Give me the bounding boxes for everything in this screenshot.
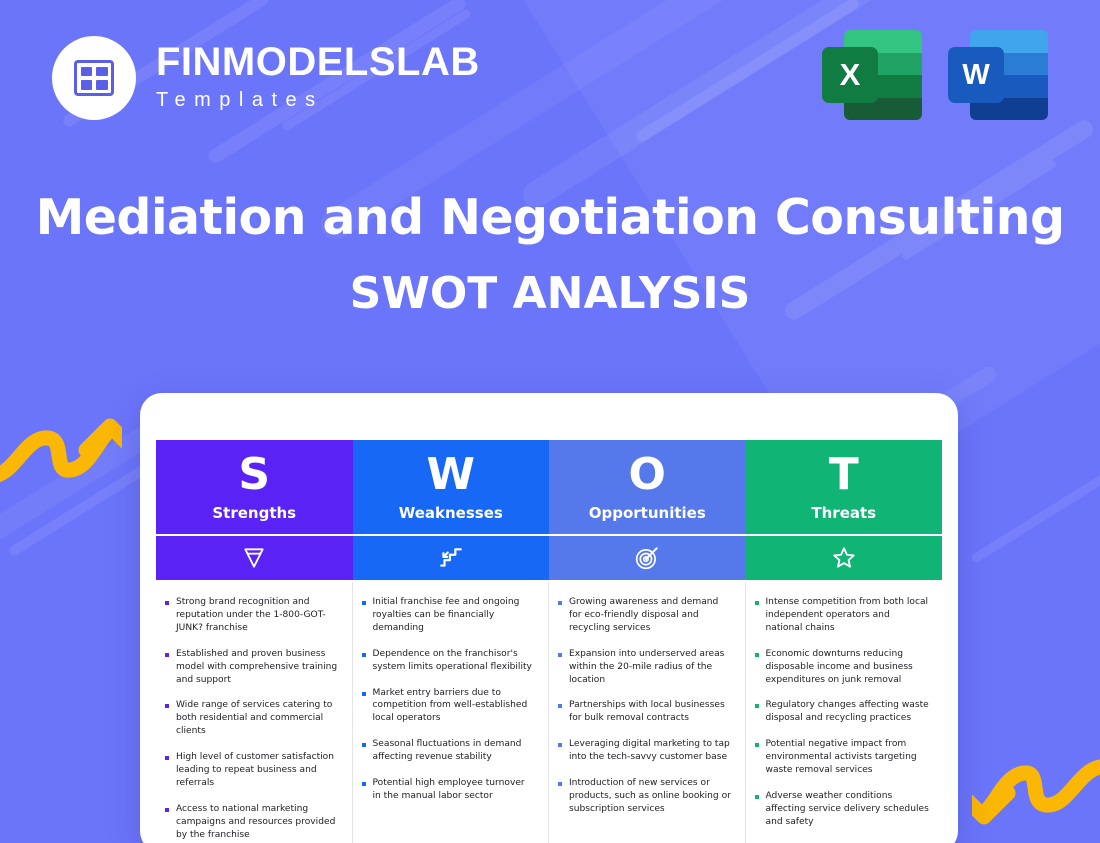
- bullet-dot-icon: [755, 601, 759, 605]
- bullet-dot-icon: [165, 808, 169, 812]
- bullet-dot-icon: [558, 704, 562, 708]
- list-item-text: Regulatory changes affecting waste dispo…: [766, 699, 930, 725]
- bullet-dot-icon: [755, 743, 759, 747]
- list-item-text: Growing awareness and demand for eco-fri…: [569, 596, 732, 635]
- list-item-text: Wide range of services catering to both …: [176, 699, 339, 738]
- page-header: FINMODELSLAB Templates X W: [0, 0, 1100, 150]
- page-subtitle: SWOT ANALYSIS: [0, 268, 1100, 319]
- list-item: Intense competition from both local inde…: [755, 596, 930, 635]
- list-item: Expansion into underserved areas within …: [558, 648, 732, 687]
- list-item: Seasonal fluctuations in demand affectin…: [362, 738, 536, 764]
- bullet-dot-icon: [362, 743, 366, 747]
- bullet-dot-icon: [362, 653, 366, 657]
- list-item-text: Introduction of new services or products…: [569, 777, 732, 816]
- swot-table: S Strengths W Weaknesses O Opportunities…: [156, 440, 942, 843]
- list-item: Leveraging digital marketing to tap into…: [558, 738, 732, 764]
- squiggly-arrow-down-left-icon: [972, 748, 1100, 843]
- list-item: Initial franchise fee and ongoing royalt…: [362, 596, 536, 635]
- list-item: Economic downturns reducing disposable i…: [755, 648, 930, 687]
- swot-icon-cell-threats: [746, 536, 943, 580]
- diamond-icon: [241, 545, 267, 571]
- descending-stairs-icon: [438, 545, 464, 571]
- word-icon: W: [948, 30, 1048, 120]
- file-format-icons: X W: [822, 30, 1048, 120]
- swot-label: Opportunities: [589, 504, 706, 522]
- list-item-text: Potential high employee turnover in the …: [373, 777, 536, 803]
- swot-card: S Strengths W Weaknesses O Opportunities…: [140, 393, 958, 843]
- bullet-dot-icon: [755, 653, 759, 657]
- swot-label: Weaknesses: [399, 504, 503, 522]
- bullet-dot-icon: [362, 601, 366, 605]
- swot-header-weaknesses[interactable]: W Weaknesses: [353, 440, 550, 534]
- list-item: Access to national marketing campaigns a…: [165, 803, 339, 842]
- brand-logo: FINMODELSLAB Templates: [52, 36, 480, 120]
- list-item: Introduction of new services or products…: [558, 777, 732, 816]
- list-item-text: Intense competition from both local inde…: [766, 596, 930, 635]
- excel-icon: X: [822, 30, 922, 120]
- list-item: Market entry barriers due to competition…: [362, 687, 536, 726]
- bullet-dot-icon: [165, 601, 169, 605]
- list-item-text: Market entry barriers due to competition…: [373, 687, 536, 726]
- list-item: High level of customer satisfaction lead…: [165, 751, 339, 790]
- logo-circle: [52, 36, 136, 120]
- list-item: Adverse weather conditions affecting ser…: [755, 790, 930, 829]
- bullet-dot-icon: [558, 601, 562, 605]
- list-item-text: Partnerships with local businesses for b…: [569, 699, 732, 725]
- list-item: Potential negative impact from environme…: [755, 738, 930, 777]
- list-item: Partnerships with local businesses for b…: [558, 699, 732, 725]
- swot-label: Strengths: [212, 504, 296, 522]
- bullet-dot-icon: [755, 704, 759, 708]
- swot-body-row: Strong brand recognition and reputation …: [156, 582, 942, 843]
- excel-icon-letter: X: [822, 47, 878, 103]
- list-item: Growing awareness and demand for eco-fri…: [558, 596, 732, 635]
- grid-squares-icon: [74, 60, 114, 96]
- bullet-dot-icon: [755, 795, 759, 799]
- list-item-text: Dependence on the franchisor's system li…: [373, 648, 536, 674]
- bullet-dot-icon: [558, 653, 562, 657]
- swot-list-opportunities: Growing awareness and demand for eco-fri…: [549, 582, 746, 843]
- list-item-text: Adverse weather conditions affecting ser…: [766, 790, 930, 829]
- swot-icon-row: [156, 536, 942, 580]
- swot-header-opportunities[interactable]: O Opportunities: [549, 440, 746, 534]
- list-item: Potential high employee turnover in the …: [362, 777, 536, 803]
- swot-letter: S: [238, 453, 270, 497]
- list-item-text: Established and proven business model wi…: [176, 648, 339, 687]
- list-item-text: Initial franchise fee and ongoing royalt…: [373, 596, 536, 635]
- list-item-text: High level of customer satisfaction lead…: [176, 751, 339, 790]
- swot-letter: W: [426, 453, 475, 497]
- swot-icon-cell-weaknesses: [353, 536, 550, 580]
- list-item: Wide range of services catering to both …: [165, 699, 339, 738]
- brand-name: FINMODELSLAB: [156, 41, 480, 83]
- title-block: Mediation and Negotiation Consulting SWO…: [0, 190, 1100, 319]
- list-item-text: Leveraging digital marketing to tap into…: [569, 738, 732, 764]
- list-item-text: Strong brand recognition and reputation …: [176, 596, 339, 635]
- list-item-text: Seasonal fluctuations in demand affectin…: [373, 738, 536, 764]
- swot-icon-cell-strengths: [156, 536, 353, 580]
- bullet-dot-icon: [558, 782, 562, 786]
- bullet-dot-icon: [165, 653, 169, 657]
- swot-list-strengths: Strong brand recognition and reputation …: [156, 582, 353, 843]
- swot-list-weaknesses: Initial franchise fee and ongoing royalt…: [353, 582, 550, 843]
- swot-header-threats[interactable]: T Threats: [746, 440, 943, 534]
- swot-header-row: S Strengths W Weaknesses O Opportunities…: [156, 440, 942, 534]
- bullet-dot-icon: [165, 756, 169, 760]
- list-item: Established and proven business model wi…: [165, 648, 339, 687]
- star-icon: [831, 545, 857, 571]
- bullet-dot-icon: [362, 692, 366, 696]
- bullet-dot-icon: [558, 743, 562, 747]
- brand-subtitle: Templates: [156, 85, 480, 115]
- bullet-dot-icon: [165, 704, 169, 708]
- target-icon: [634, 545, 660, 571]
- list-item: Dependence on the franchisor's system li…: [362, 648, 536, 674]
- list-item-text: Economic downturns reducing disposable i…: [766, 648, 930, 687]
- list-item-text: Potential negative impact from environme…: [766, 738, 930, 777]
- word-icon-letter: W: [948, 47, 1004, 103]
- list-item-text: Access to national marketing campaigns a…: [176, 803, 339, 842]
- swot-letter: T: [829, 453, 859, 497]
- squiggly-arrow-up-right-icon: [0, 400, 122, 500]
- bullet-dot-icon: [362, 782, 366, 786]
- page-title: Mediation and Negotiation Consulting: [0, 190, 1100, 246]
- list-item: Strong brand recognition and reputation …: [165, 596, 339, 635]
- swot-icon-cell-opportunities: [549, 536, 746, 580]
- list-item: Regulatory changes affecting waste dispo…: [755, 699, 930, 725]
- swot-header-strengths[interactable]: S Strengths: [156, 440, 353, 534]
- swot-label: Threats: [811, 504, 876, 522]
- list-item-text: Expansion into underserved areas within …: [569, 648, 732, 687]
- swot-list-threats: Intense competition from both local inde…: [746, 582, 943, 843]
- swot-letter: O: [629, 453, 666, 497]
